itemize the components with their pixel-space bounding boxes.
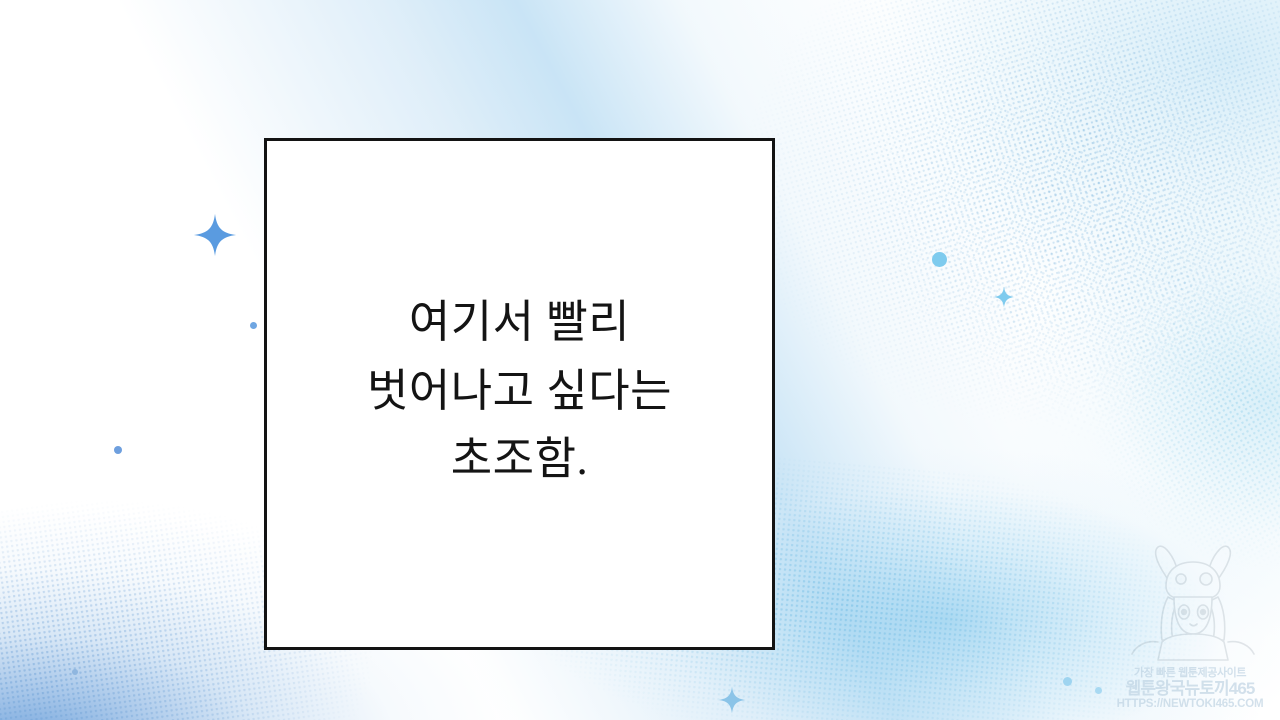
panel-dialogue-text: 여기서 빨리 벗어나고 싶다는 초조함. [367,288,672,499]
watermark-brand: 웹툰왕국뉴토끼465 [1104,680,1276,699]
dot-right-upper-icon [932,252,947,267]
watermark-text-block: 가장 빠른 웹툰제공사이트 웹툰왕국뉴토끼465 HTTPS://NEWTOKI… [1104,667,1276,712]
watermark-url: HTTPS://NEWTOKI465.COM [1104,698,1276,712]
bunny-girl-mascot-icon [1118,542,1268,662]
sparkle-panel-bottom-icon [718,686,746,714]
panel-dialogue-line-3: 초조함. [367,425,672,493]
watermark-tagline: 가장 빠른 웹툰제공사이트 [1104,667,1276,680]
comic-panel: 여기서 빨리 벗어나고 싶다는 초조함. [264,138,775,650]
halftone-texture-right-edge [994,200,1280,639]
panel-dialogue-line-2: 벗어나고 싶다는 [367,357,672,425]
panel-dialogue-line-1: 여기서 빨리 [367,288,672,356]
webtoon-page: 여기서 빨리 벗어나고 싶다는 초조함. [0,0,1280,720]
dot-bottom-right-small-icon [1063,677,1072,686]
dot-left-lower-icon [114,446,122,454]
dot-bottom-right-tiny-icon [1095,687,1102,694]
dot-bottom-left-faint-icon [72,669,78,675]
halftone-texture-top-right-2 [755,0,1280,527]
sparkle-right-upper-icon [993,286,1015,308]
sparkle-left-upper-icon [193,213,237,257]
dot-left-upper-icon [250,322,257,329]
site-watermark: 가장 빠른 웹툰제공사이트 웹툰왕국뉴토끼465 HTTPS://NEWTOKI… [1104,542,1276,718]
